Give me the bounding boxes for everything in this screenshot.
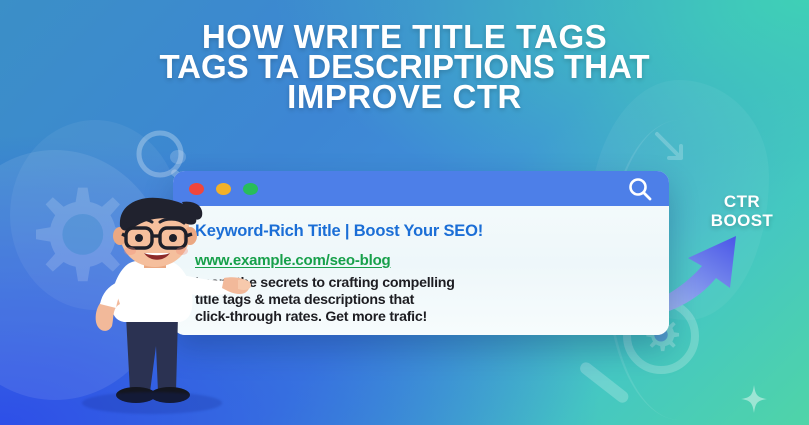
sparkle-icon	[741, 385, 767, 413]
traffic-light-group	[189, 183, 258, 195]
minimize-button[interactable]	[216, 183, 231, 195]
character-shadow	[82, 392, 222, 414]
maximize-button[interactable]	[243, 183, 258, 195]
snippet-description-line-2: title tags & meta descriptions that	[195, 292, 649, 309]
close-button[interactable]	[189, 183, 204, 195]
snippet-description-line-3: click-through rates. Get more trafic!	[195, 309, 649, 326]
snippet-title-link[interactable]: Keyword-Rich Title | Boost Your SEO!	[195, 222, 649, 241]
search-icon[interactable]	[627, 176, 653, 202]
ctr-boost-line-2: BOOST	[697, 211, 787, 230]
background-dot	[170, 150, 186, 164]
corner-arrow-icon	[651, 128, 691, 168]
snippet-description: Learn the secrets to crafting compelling…	[195, 275, 649, 326]
ctr-boost-line-1: CTR	[697, 192, 787, 211]
ctr-boost-callout: CTR BOOST	[697, 192, 787, 230]
person-pointing-illustration	[62, 196, 252, 425]
page-title: HOW WRITE TITLE TAGS TAGS TA DESCRIPTION…	[0, 22, 809, 112]
snippet-description-line-1: Learn the secrets to crafting compelling	[195, 275, 649, 292]
headline-line-3: IMPROVE CTR	[0, 82, 809, 112]
poster-canvas: HOW WRITE TITLE TAGS TAGS TA DESCRIPTION…	[0, 0, 809, 425]
